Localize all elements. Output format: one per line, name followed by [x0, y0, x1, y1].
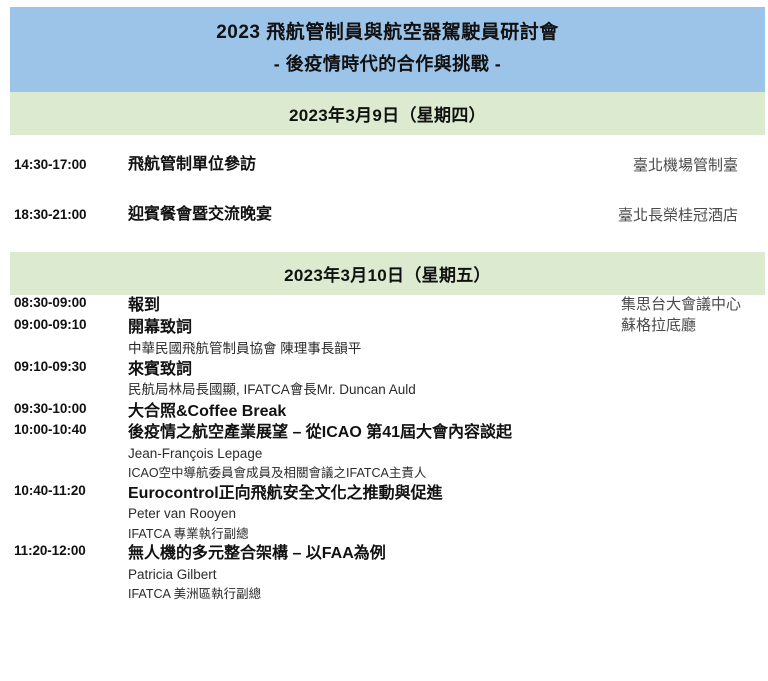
day-header-day2-label: 2023年3月10日（星期五） [284, 261, 491, 286]
schedule-day2: 集思台大會議中心 蘇格拉底廳 08:30-09:00 報到 09:00-09:1… [0, 295, 768, 604]
row-detail: 大合照&Coffee Break [128, 401, 765, 423]
day-header-day1-label: 2023年3月9日（星期四） [289, 101, 486, 126]
day2-venue: 集思台大會議中心 蘇格拉底廳 [621, 295, 741, 336]
row-time: 18:30-21:00 [14, 207, 128, 222]
schedule-row: 09:30-10:00 大合照&Coffee Break [0, 401, 765, 423]
schedule-row: 09:10-09:30 來賓致詞 民航局林局長國顯, IFATCA會長Mr. D… [0, 359, 765, 401]
row-affiliation: ICAO空中導航委員會成員及相關會議之IFATCA主責人 [128, 464, 765, 483]
row-time: 08:30-09:00 [14, 295, 128, 310]
schedule-row: 18:30-21:00 迎賓餐會暨交流晚宴 臺北長榮桂冠酒店 [0, 189, 765, 239]
row-detail: 飛航管制單位參訪 [128, 154, 633, 176]
schedule-day1: 14:30-17:00 飛航管制單位參訪 臺北機場管制臺 18:30-21:00… [0, 139, 768, 239]
day-header-day1: 2023年3月9日（星期四） [10, 92, 765, 135]
row-detail: 無人機的多元整合架構 – 以FAA為例 Patricia Gilbert IFA… [128, 543, 765, 604]
row-time: 11:20-12:00 [14, 543, 128, 558]
row-speaker: Peter van Rooyen [128, 504, 765, 524]
row-title: Eurocontrol正向飛航安全文化之推動與促進 [128, 483, 765, 505]
agenda-document: 2023 飛航管制員與航空器駕駛員研討會 - 後疫情時代的合作與挑戰 - 202… [0, 7, 768, 681]
row-speaker: Jean-François Lepage [128, 444, 765, 464]
day-header-day2: 2023年3月10日（星期五） [10, 252, 765, 295]
row-time: 09:30-10:00 [14, 401, 128, 416]
row-time: 09:10-09:30 [14, 359, 128, 374]
row-title: 無人機的多元整合架構 – 以FAA為例 [128, 543, 765, 565]
conference-subtitle: - 後疫情時代的合作與挑戰 - [10, 51, 765, 79]
row-detail: 後疫情之航空產業展望 – 從ICAO 第41屆大會內容談起 Jean-Franç… [128, 422, 765, 483]
schedule-row: 14:30-17:00 飛航管制單位參訪 臺北機場管制臺 [0, 139, 765, 189]
row-detail: 迎賓餐會暨交流晚宴 [128, 204, 618, 226]
schedule-row: 11:20-12:00 無人機的多元整合架構 – 以FAA為例 Patricia… [0, 543, 765, 604]
row-speaker: 中華民國飛航管制員協會 陳理事長韻平 [128, 339, 765, 359]
schedule-row: 10:40-11:20 Eurocontrol正向飛航安全文化之推動與促進 Pe… [0, 483, 765, 544]
row-title: 來賓致詞 [128, 359, 765, 381]
row-title: 大合照&Coffee Break [128, 401, 765, 423]
row-speaker: 民航局林局長國顯, IFATCA會長Mr. Duncan Auld [128, 380, 765, 400]
row-time: 10:40-11:20 [14, 483, 128, 498]
row-title: 飛航管制單位參訪 [128, 154, 633, 176]
row-venue: 臺北長榮桂冠酒店 [618, 204, 765, 225]
row-affiliation: IFATCA 美洲區執行副總 [128, 585, 765, 604]
conference-title: 2023 飛航管制員與航空器駕駛員研討會 [10, 18, 765, 47]
row-title: 後疫情之航空產業展望 – 從ICAO 第41屆大會內容談起 [128, 422, 765, 444]
row-time: 14:30-17:00 [14, 157, 128, 172]
row-affiliation: IFATCA 專業執行副總 [128, 525, 765, 544]
schedule-row: 10:00-10:40 後疫情之航空產業展望 – 從ICAO 第41屆大會內容談… [0, 422, 765, 483]
row-detail: 來賓致詞 民航局林局長國顯, IFATCA會長Mr. Duncan Auld [128, 359, 765, 401]
row-title: 迎賓餐會暨交流晚宴 [128, 204, 618, 226]
row-time: 09:00-09:10 [14, 317, 128, 332]
row-detail: Eurocontrol正向飛航安全文化之推動與促進 Peter van Rooy… [128, 483, 765, 544]
conference-banner: 2023 飛航管制員與航空器駕駛員研討會 - 後疫情時代的合作與挑戰 - [10, 7, 765, 92]
row-speaker: Patricia Gilbert [128, 565, 765, 585]
row-venue: 臺北機場管制臺 [633, 154, 765, 175]
row-time: 10:00-10:40 [14, 422, 128, 437]
